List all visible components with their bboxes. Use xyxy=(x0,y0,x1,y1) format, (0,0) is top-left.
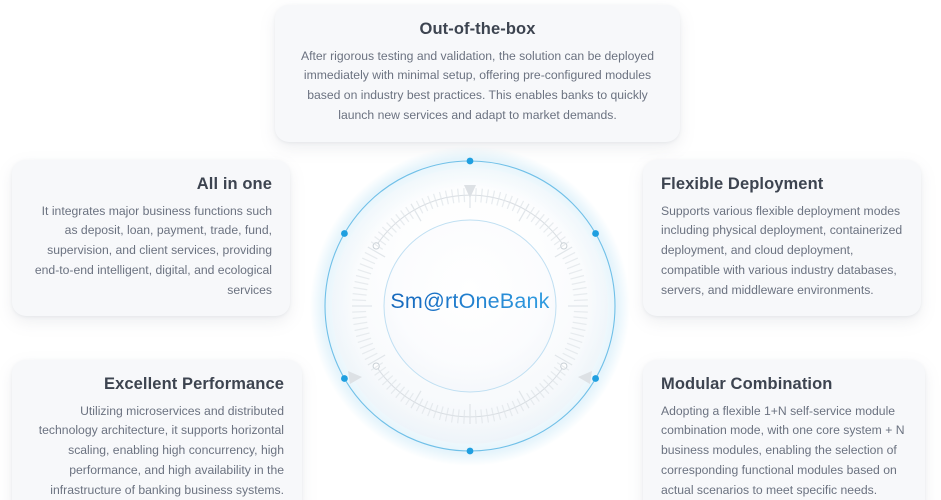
feature-card-title: Excellent Performance xyxy=(30,374,284,395)
tick-mark xyxy=(574,311,588,312)
inner-circle xyxy=(384,220,556,392)
feature-card-body: Utilizing microservices and distributed … xyxy=(30,402,284,500)
feature-card-title: Flexible Deployment xyxy=(661,174,903,195)
tick-mark xyxy=(352,311,366,312)
central-ring-graphic: Sm@rtOneBank xyxy=(307,143,633,469)
tick-mark xyxy=(464,410,465,424)
feature-card-body: Adopting a flexible 1+N self-service mod… xyxy=(661,402,907,500)
ring-dot xyxy=(592,230,599,237)
feature-card-all-in-one[interactable]: All in one It integrates major business … xyxy=(12,160,290,316)
feature-card-out-of-the-box[interactable]: Out-of-the-box After rigorous testing an… xyxy=(275,5,680,142)
feature-card-title: Modular Combination xyxy=(661,374,907,395)
feature-diagram-page: Out-of-the-box After rigorous testing an… xyxy=(0,0,941,500)
ring-svg xyxy=(307,143,633,469)
tick-mark xyxy=(475,410,476,424)
tick-mark xyxy=(475,188,476,202)
feature-card-excellent-performance[interactable]: Excellent Performance Utilizing microser… xyxy=(12,360,302,500)
feature-card-body: Supports various flexible deployment mod… xyxy=(661,202,903,301)
tick-mark xyxy=(464,188,465,202)
feature-card-flexible-deployment[interactable]: Flexible Deployment Supports various fle… xyxy=(643,160,921,316)
feature-card-title: Out-of-the-box xyxy=(293,19,662,40)
feature-card-body: It integrates major business functions s… xyxy=(30,202,272,301)
ring-dot xyxy=(467,448,474,455)
ring-dot xyxy=(592,375,599,382)
feature-card-modular-combination[interactable]: Modular Combination Adopting a flexible … xyxy=(643,360,925,500)
ring-dot xyxy=(341,375,348,382)
tick-mark xyxy=(574,300,588,301)
ring-dot xyxy=(341,230,348,237)
feature-card-body: After rigorous testing and validation, t… xyxy=(293,47,662,126)
ring-dot xyxy=(467,158,474,165)
tick-mark xyxy=(352,300,366,301)
feature-card-title: All in one xyxy=(30,174,272,195)
